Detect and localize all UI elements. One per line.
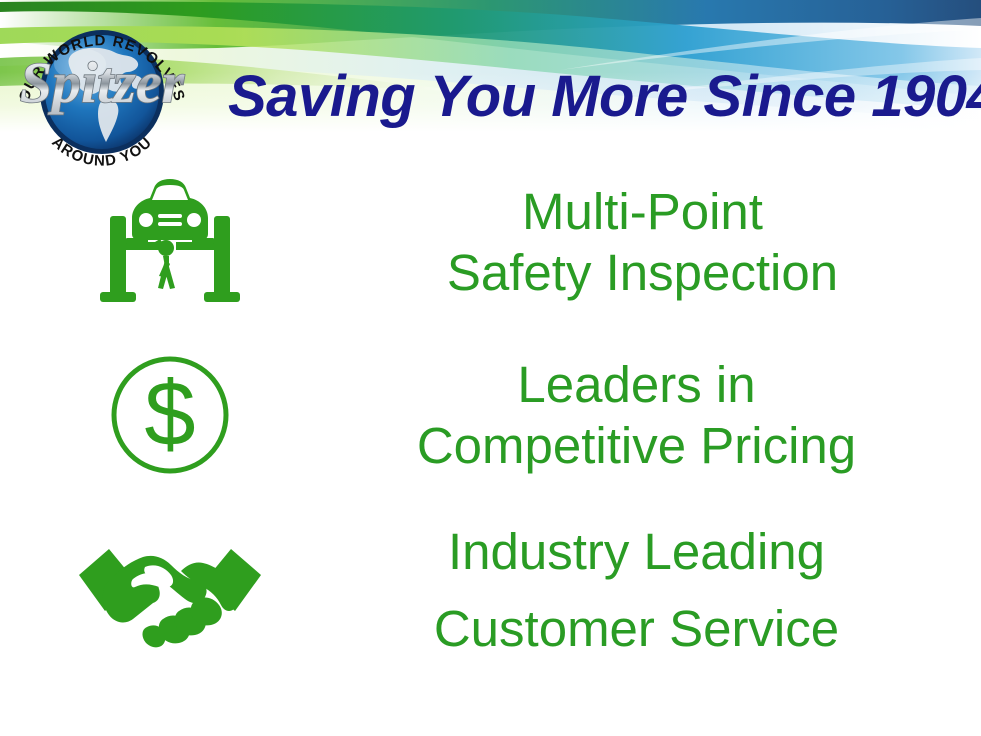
feature-row-inspection: Multi-Point Safety Inspection bbox=[0, 168, 981, 316]
feature-text-pricing: Leaders in Competitive Pricing bbox=[340, 354, 981, 476]
feature-row-service: Industry Leading Customer Service bbox=[0, 510, 981, 670]
spitzer-logo: OUR WORLD REVOLVES AROUND YOU Spitzer bbox=[6, 2, 198, 180]
svg-text:$: $ bbox=[144, 363, 195, 465]
page-title: Saving You More Since 1904 bbox=[228, 66, 970, 128]
handshake-icon-cell bbox=[0, 527, 340, 653]
logo-wordmark: Spitzer bbox=[20, 50, 185, 115]
slide-canvas: Saving You More Since 1904 bbox=[0, 0, 981, 736]
feature-line: Leaders in bbox=[340, 354, 933, 415]
feature-line: Industry Leading bbox=[340, 513, 933, 590]
svg-text:Spitzer: Spitzer bbox=[20, 50, 185, 115]
handshake-icon bbox=[75, 527, 265, 653]
dollar-circle-icon-cell: $ bbox=[0, 347, 340, 483]
feature-text-service: Industry Leading Customer Service bbox=[340, 513, 981, 667]
feature-text-inspection: Multi-Point Safety Inspection bbox=[340, 181, 981, 303]
car-lift-icon-cell bbox=[0, 176, 340, 308]
dollar-circle-icon: $ bbox=[102, 347, 238, 483]
feature-line: Safety Inspection bbox=[340, 242, 945, 303]
feature-line: Competitive Pricing bbox=[340, 415, 933, 476]
car-lift-icon bbox=[96, 176, 244, 308]
feature-line: Customer Service bbox=[340, 590, 933, 667]
feature-row-pricing: $ Leaders in Competitive Pricing bbox=[0, 340, 981, 490]
feature-line: Multi-Point bbox=[340, 181, 945, 242]
